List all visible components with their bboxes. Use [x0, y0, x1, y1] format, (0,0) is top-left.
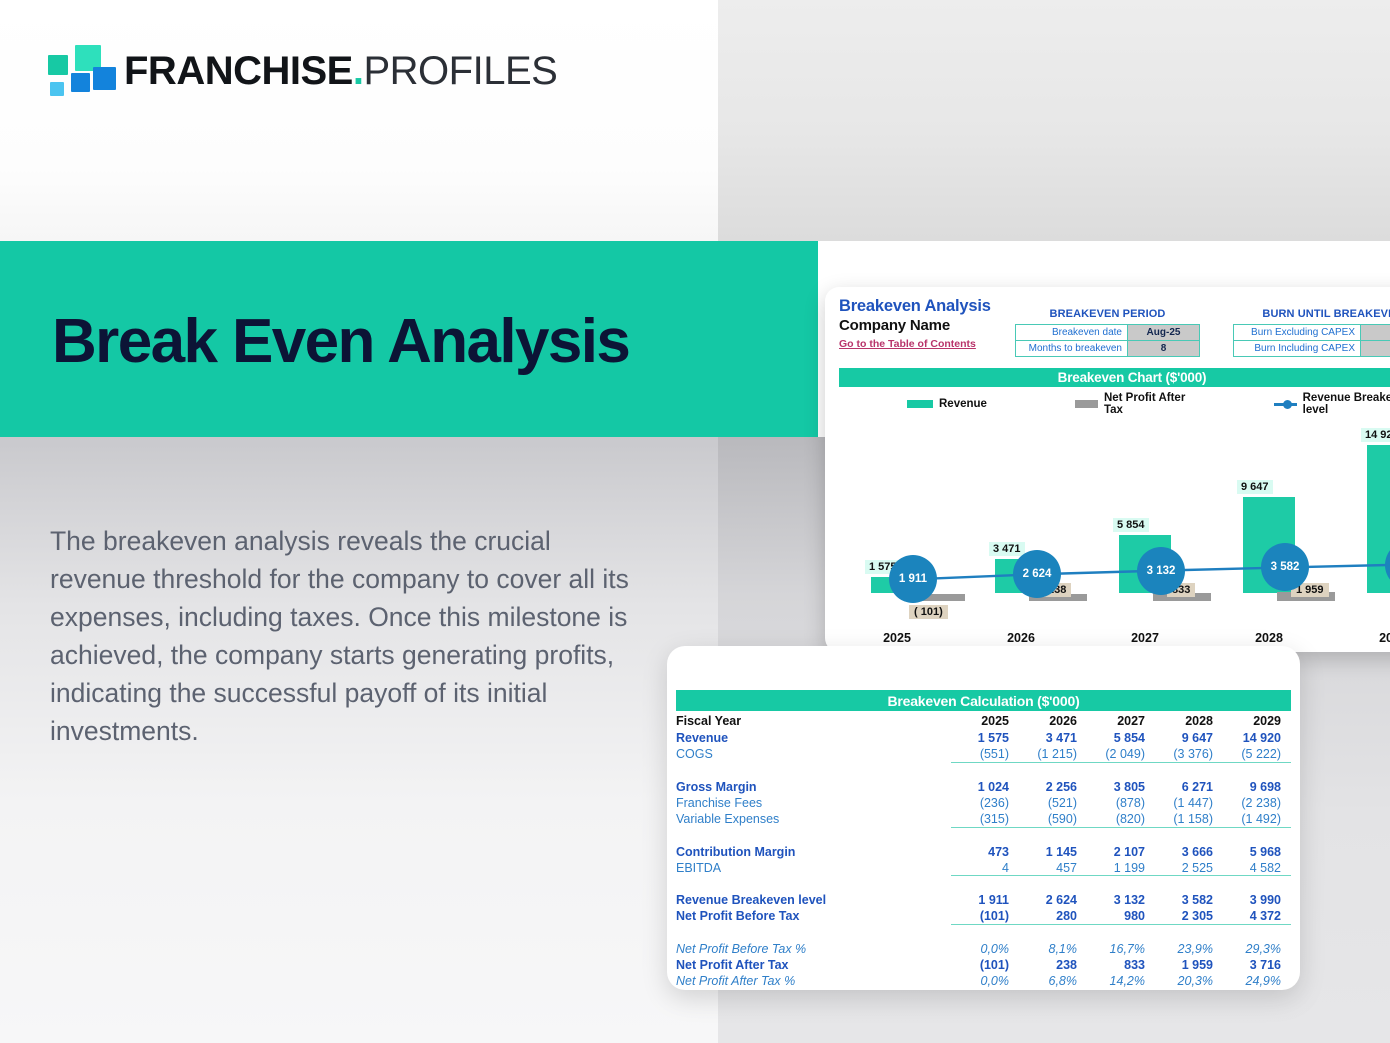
cell-2028: 1 959 [1155, 957, 1223, 973]
chart-plot-area: 1 575( 101)20253 47123820265 85483320279… [839, 415, 1390, 645]
column-header-2029: 2029 [1223, 714, 1291, 730]
row-label: Net Profit Before Tax % [676, 941, 951, 957]
row-label: Franchise Fees [676, 795, 951, 811]
cell-2029: 24,9% [1223, 973, 1291, 989]
cell-2025: 4 [951, 860, 1019, 876]
legend-label: Net Profit After Tax [1104, 392, 1196, 416]
cell-2027: 833 [1087, 957, 1155, 973]
legend-swatch-icon [907, 400, 933, 408]
cell-2025: (101) [951, 957, 1019, 973]
months-to-breakeven-value: 8 [1128, 341, 1200, 357]
table-row: Burn Including CAPEX [1234, 341, 1390, 357]
cell-2026: 2 256 [1019, 779, 1087, 795]
table-row: Months to breakeven 8 [1016, 341, 1200, 357]
legend-item-revenue: Revenue [907, 398, 987, 410]
row-label: Variable Expenses [676, 811, 951, 827]
brand-wordmark: FRANCHISE.PROFILES [124, 49, 557, 94]
cell-2028: 3 666 [1155, 844, 1223, 860]
cell-2027: 16,7% [1087, 941, 1155, 957]
cell-2025: 1 575 [951, 730, 1019, 746]
table-rule [676, 924, 1291, 940]
cell-2026: 2 624 [1019, 892, 1087, 908]
cell-2029: 5 968 [1223, 844, 1291, 860]
cell-2029: (1 492) [1223, 811, 1291, 827]
cell-2027: 3 805 [1087, 779, 1155, 795]
legend-line-marker-icon [1274, 403, 1297, 406]
row-label: Gross Margin [676, 779, 951, 795]
burn-until-breakeven-table: Burn Excluding CAPEX Burn Including CAPE… [1233, 324, 1390, 357]
cell-2028: (3 376) [1155, 746, 1223, 762]
cell-2026: (590) [1019, 811, 1087, 827]
row-label: Net Profit Before Tax [676, 908, 951, 924]
page-title: Break Even Analysis [52, 306, 629, 377]
table-row: Revenue1 5753 4715 8549 64714 920 [676, 730, 1291, 746]
burn-excluding-capex-label: Burn Excluding CAPEX [1234, 325, 1361, 341]
chart-legend: Revenue Net Profit After Tax Revenue Bre… [839, 392, 1390, 416]
breakeven-calculation-card: Breakeven Calculation ($'000) Fiscal Yea… [667, 646, 1300, 990]
cell-2028: 2 525 [1155, 860, 1223, 876]
table-row: Gross Margin1 0242 2563 8056 2719 698 [676, 779, 1291, 795]
cell-2026: 280 [1019, 908, 1087, 924]
table-rule [676, 827, 1291, 843]
cell-2025: 1 024 [951, 779, 1019, 795]
cell-2027: (2 049) [1087, 746, 1155, 762]
bg-panel-left-top [0, 0, 718, 241]
cell-2025: 0,0% [951, 973, 1019, 989]
cell-2025: (551) [951, 746, 1019, 762]
table-row: Variable Expenses(315)(590)(820)(1 158)(… [676, 811, 1291, 827]
cell-2029: (2 238) [1223, 795, 1291, 811]
cell-2029: 9 698 [1223, 779, 1291, 795]
column-header-2025: 2025 [951, 714, 1019, 730]
row-label: Net Profit After Tax % [676, 973, 951, 989]
row-label: COGS [676, 746, 951, 762]
breakeven-level-bubble-2026: 2 624 [1013, 550, 1061, 598]
table-row: EBITDA44571 1992 5254 582 [676, 860, 1291, 876]
cell-2028: 20,3% [1155, 973, 1223, 989]
table-banner-title: Breakeven Calculation ($'000) [676, 690, 1291, 711]
table-of-contents-link[interactable]: Go to the Table of Contents [839, 338, 976, 350]
chart-banner-title: Breakeven Chart ($'000) [839, 368, 1390, 387]
breakeven-chart-card: Breakeven Analysis Company Name Go to th… [825, 287, 1390, 652]
table-rule [676, 876, 1291, 892]
breakeven-level-bubble-2027: 3 132 [1137, 547, 1185, 595]
months-to-breakeven-label: Months to breakeven [1016, 341, 1128, 357]
column-header-fiscal-year: Fiscal Year [676, 714, 951, 730]
bg-panel-right-top [718, 0, 1390, 241]
cell-2026: 1 145 [1019, 844, 1087, 860]
cell-2026: (521) [1019, 795, 1087, 811]
cell-2028: 2 305 [1155, 908, 1223, 924]
burn-including-capex-label: Burn Including CAPEX [1234, 341, 1361, 357]
cell-2027: 14,2% [1087, 973, 1155, 989]
cell-2027: 980 [1087, 908, 1155, 924]
logo-squares-icon [48, 45, 106, 97]
legend-item-net-profit-after-tax: Net Profit After Tax [1075, 392, 1196, 416]
burn-until-breakeven-heading: BURN UNTIL BREAKEVEN [1233, 308, 1390, 320]
row-label: Revenue Breakeven level [676, 892, 951, 908]
burn-including-capex-value [1361, 341, 1390, 357]
row-label: Net Profit After Tax [676, 957, 951, 973]
cell-2029: 4 582 [1223, 860, 1291, 876]
cell-2029: 14 920 [1223, 730, 1291, 746]
cell-2025: (236) [951, 795, 1019, 811]
cell-2027: 3 132 [1087, 892, 1155, 908]
breakeven-calculation-table: Fiscal Year 2025 2026 2027 2028 2029 Rev… [676, 714, 1291, 989]
intro-paragraph: The breakeven analysis reveals the cruci… [50, 522, 635, 750]
cell-2025: (101) [951, 908, 1019, 924]
breakeven-period-heading: BREAKEVEN PERIOD [1015, 308, 1200, 320]
cell-2025: 0,0% [951, 941, 1019, 957]
table-rule [676, 763, 1291, 779]
table-row: Net Profit After Tax(101)2388331 9593 71… [676, 957, 1291, 973]
cell-2025: 1 911 [951, 892, 1019, 908]
table-row: Revenue Breakeven level1 9112 6243 1323 … [676, 892, 1291, 908]
brand-logo: FRANCHISE.PROFILES [48, 45, 557, 97]
legend-item-revenue-breakeven-level: Revenue Breakeven level [1274, 392, 1390, 416]
table-row: Franchise Fees(236)(521)(878)(1 447)(2 2… [676, 795, 1291, 811]
table-row: Burn Excluding CAPEX [1234, 325, 1390, 341]
cell-2026: 3 471 [1019, 730, 1087, 746]
breakeven-period-table: Breakeven date Aug-25 Months to breakeve… [1015, 324, 1200, 357]
cell-2026: 6,8% [1019, 973, 1087, 989]
cell-2025: 473 [951, 844, 1019, 860]
column-header-2026: 2026 [1019, 714, 1087, 730]
breakeven-date-value: Aug-25 [1128, 325, 1200, 341]
table-row: Net Profit After Tax %0,0%6,8%14,2%20,3%… [676, 973, 1291, 989]
column-header-2027: 2027 [1087, 714, 1155, 730]
legend-label: Revenue [939, 398, 987, 410]
cell-2027: 1 199 [1087, 860, 1155, 876]
column-header-2028: 2028 [1155, 714, 1223, 730]
cell-2029: 4 372 [1223, 908, 1291, 924]
cell-2026: 457 [1019, 860, 1087, 876]
brand-dot: . [353, 49, 364, 93]
breakeven-line-series [839, 415, 1390, 645]
breakeven-level-bubble-2025: 1 911 [889, 555, 937, 603]
cell-2029: 3 716 [1223, 957, 1291, 973]
cell-2026: (1 215) [1019, 746, 1087, 762]
cell-2028: (1 447) [1155, 795, 1223, 811]
table-header-row: Fiscal Year 2025 2026 2027 2028 2029 [676, 714, 1291, 730]
row-label: Revenue [676, 730, 951, 746]
table-row: Net Profit Before Tax(101)2809802 3054 3… [676, 908, 1291, 924]
cell-2028: 9 647 [1155, 730, 1223, 746]
cell-2028: (1 158) [1155, 811, 1223, 827]
burn-excluding-capex-value [1361, 325, 1390, 341]
row-label: Contribution Margin [676, 844, 951, 860]
cell-2029: 3 990 [1223, 892, 1291, 908]
cell-2029: (5 222) [1223, 746, 1291, 762]
cell-2028: 6 271 [1155, 779, 1223, 795]
cell-2026: 8,1% [1019, 941, 1087, 957]
brand-name-bold: FRANCHISE [124, 49, 353, 93]
table-row: Net Profit Before Tax %0,0%8,1%16,7%23,9… [676, 941, 1291, 957]
cell-2029: 29,3% [1223, 941, 1291, 957]
row-label: EBITDA [676, 860, 951, 876]
cell-2026: 238 [1019, 957, 1087, 973]
table-row: Contribution Margin4731 1452 1073 6665 9… [676, 844, 1291, 860]
burn-until-breakeven-block: BURN UNTIL BREAKEVEN Burn Excluding CAPE… [1233, 308, 1390, 357]
legend-label: Revenue Breakeven level [1303, 392, 1390, 416]
brand-name-light: PROFILES [363, 49, 557, 93]
cell-2028: 3 582 [1155, 892, 1223, 908]
cell-2028: 23,9% [1155, 941, 1223, 957]
cell-2025: (315) [951, 811, 1019, 827]
cell-2027: 2 107 [1087, 844, 1155, 860]
cell-2027: (878) [1087, 795, 1155, 811]
table-row: COGS(551)(1 215)(2 049)(3 376)(5 222) [676, 746, 1291, 762]
breakeven-date-label: Breakeven date [1016, 325, 1128, 341]
breakeven-period-block: BREAKEVEN PERIOD Breakeven date Aug-25 M… [1015, 308, 1200, 357]
legend-swatch-icon [1075, 400, 1098, 408]
cell-2027: 5 854 [1087, 730, 1155, 746]
cell-2027: (820) [1087, 811, 1155, 827]
table-row: Breakeven date Aug-25 [1016, 325, 1200, 341]
